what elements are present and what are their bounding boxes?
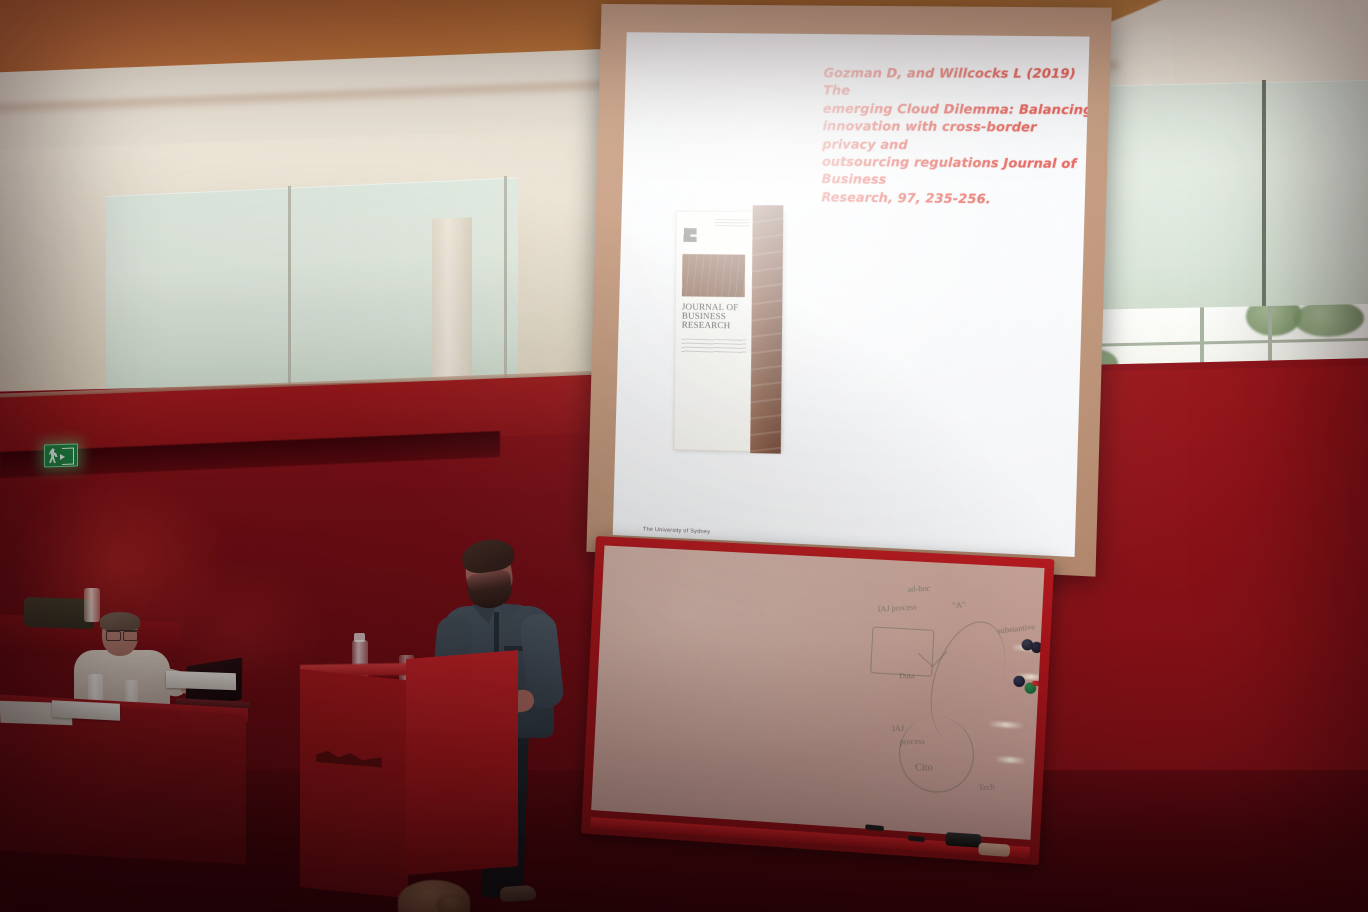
citation-line: Gozman D, and Willcocks L (2019) The bbox=[823, 64, 1089, 100]
journal-cover-image: JOURNAL OF BUSINESS RESEARCH bbox=[673, 211, 783, 451]
whiteboard-surface: ad-hoc IAJ process "A" substantive Data … bbox=[591, 545, 1044, 839]
tree bbox=[1294, 304, 1364, 338]
slide-footer-institution: The University of Sydney bbox=[643, 527, 711, 536]
whiteboard-scribble: IAJ bbox=[892, 724, 904, 733]
lectern bbox=[300, 655, 516, 887]
mullion bbox=[1262, 80, 1266, 324]
citation-line: innovation with cross-border privacy and bbox=[822, 117, 1089, 155]
window-frame bbox=[1078, 338, 1368, 347]
projection-screen: JOURNAL OF BUSINESS RESEARCH Gozman D, a… bbox=[586, 4, 1111, 577]
name-card bbox=[52, 700, 120, 721]
whiteboard: ad-hoc IAJ process "A" substantive Data … bbox=[581, 536, 1054, 865]
journal-spine bbox=[750, 205, 783, 454]
slide-citation-text: Gozman D, and Willcocks L (2019) The eme… bbox=[821, 64, 1089, 209]
lectern-right-panel bbox=[406, 650, 518, 875]
journal-fine-print bbox=[681, 339, 746, 354]
journal-volume-text bbox=[715, 219, 750, 227]
glass-panel-right bbox=[1078, 80, 1368, 326]
lecture-theatre-photo: JOURNAL OF BUSINESS RESEARCH Gozman D, a… bbox=[0, 0, 1368, 912]
whiteboard-scribble: Tech bbox=[978, 782, 995, 792]
panel-desk bbox=[0, 700, 246, 864]
citation-line: Research, 97, 235-256. bbox=[821, 188, 1089, 209]
presenter-shoe bbox=[500, 885, 537, 902]
whiteboard-scribble: ad-hoc bbox=[907, 584, 930, 594]
eyeglasses-icon bbox=[106, 630, 138, 639]
exit-sign bbox=[44, 443, 78, 467]
audience-head bbox=[436, 894, 470, 912]
lectern-left-panel bbox=[300, 669, 408, 898]
elsevier-logo-icon bbox=[684, 228, 697, 242]
slide-content: JOURNAL OF BUSINESS RESEARCH Gozman D, a… bbox=[613, 32, 1090, 557]
mullion bbox=[288, 186, 291, 414]
whiteboard-eraser[interactable] bbox=[945, 832, 981, 848]
seated-hair bbox=[100, 612, 140, 630]
running-man-icon bbox=[49, 448, 58, 463]
citation-line: outsourcing regulations Journal of Busin… bbox=[822, 152, 1090, 190]
journal-title-line3: RESEARCH bbox=[682, 321, 749, 331]
journal-title: JOURNAL OF BUSINESS RESEARCH bbox=[682, 302, 749, 331]
whiteboard-eraser[interactable] bbox=[978, 843, 1010, 857]
journal-front-page: JOURNAL OF BUSINESS RESEARCH bbox=[673, 211, 754, 452]
name-card bbox=[166, 671, 236, 690]
whiteboard-scribble: "A" bbox=[952, 600, 966, 610]
bottle-cap bbox=[354, 633, 365, 642]
slide-surface: JOURNAL OF BUSINESS RESEARCH Gozman D, a… bbox=[613, 32, 1090, 557]
citation-line: emerging Cloud Dilemma: Balancing bbox=[823, 99, 1090, 118]
journal-cover-photo bbox=[682, 254, 745, 297]
door-icon bbox=[62, 448, 74, 465]
